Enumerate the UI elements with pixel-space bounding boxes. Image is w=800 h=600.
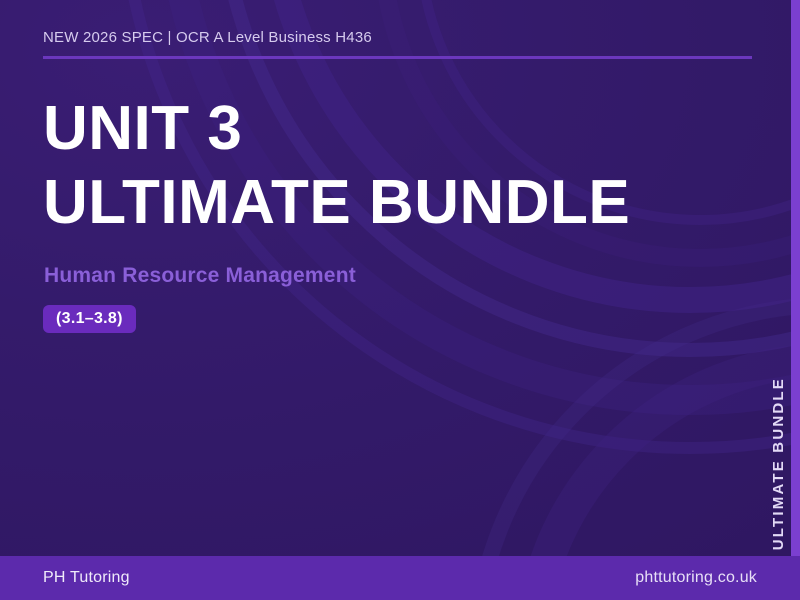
footer-website-url: phttutoring.co.uk xyxy=(635,569,757,587)
title-block: UNIT 3 ULTIMATE BUNDLE xyxy=(43,92,763,240)
header-divider-rule xyxy=(43,56,752,59)
poster-canvas: NEW 2026 SPEC | OCR A Level Business H43… xyxy=(0,0,800,600)
header: NEW 2026 SPEC | OCR A Level Business H43… xyxy=(43,28,753,59)
spec-range-badge: (3.1–3.8) xyxy=(43,305,136,333)
topic-subtitle: Human Resource Management xyxy=(44,262,356,289)
title-line-one: UNIT 3 xyxy=(43,92,763,166)
vertical-side-label: ULTIMATE BUNDLE xyxy=(770,377,787,550)
title-line-two: ULTIMATE BUNDLE xyxy=(43,166,763,240)
background-arcs-decoration xyxy=(0,0,800,600)
footer-bar: PH Tutoring phttutoring.co.uk xyxy=(0,556,800,600)
footer-brand-name: PH Tutoring xyxy=(43,569,130,587)
right-accent-stripe xyxy=(791,0,800,556)
spec-eyebrow-text: NEW 2026 SPEC | OCR A Level Business H43… xyxy=(43,28,753,48)
